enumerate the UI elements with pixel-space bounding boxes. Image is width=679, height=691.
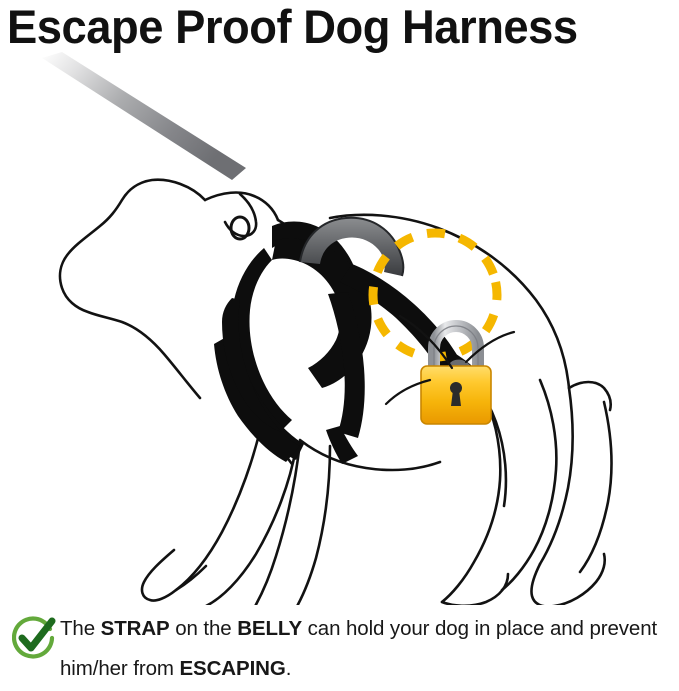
caption-l1-seg-0: The: [60, 617, 101, 640]
green-check-icon: [12, 615, 56, 659]
caption-line-1: The STRAP on the BELLY can hold your dog…: [60, 609, 677, 649]
caption-text: The STRAP on the BELLY can hold your dog…: [60, 609, 677, 689]
leash: [42, 52, 246, 180]
page-title: Escape Proof Dog Harness: [7, 1, 652, 53]
caption-line-2: him/her from ESCAPING.: [60, 649, 677, 689]
product-infographic-page: Escape Proof Dog Harness: [0, 0, 679, 691]
caption-l2-seg-2: .: [286, 657, 292, 680]
dog-harness-illustration: [0, 50, 679, 605]
caption-block: The STRAP on the BELLY can hold your dog…: [0, 605, 679, 691]
caption-l1-seg-3: BELLY: [237, 617, 302, 640]
caption-l2-seg-1: ESCAPING: [179, 657, 285, 680]
caption-l1-seg-2: on the: [170, 617, 238, 640]
caption-l1-seg-4: can hold your dog in place and prevent: [302, 617, 657, 640]
caption-l2-seg-0: him/her from: [60, 657, 179, 680]
caption-l1-seg-1: STRAP: [101, 617, 170, 640]
illustration-canvas: [0, 50, 679, 605]
